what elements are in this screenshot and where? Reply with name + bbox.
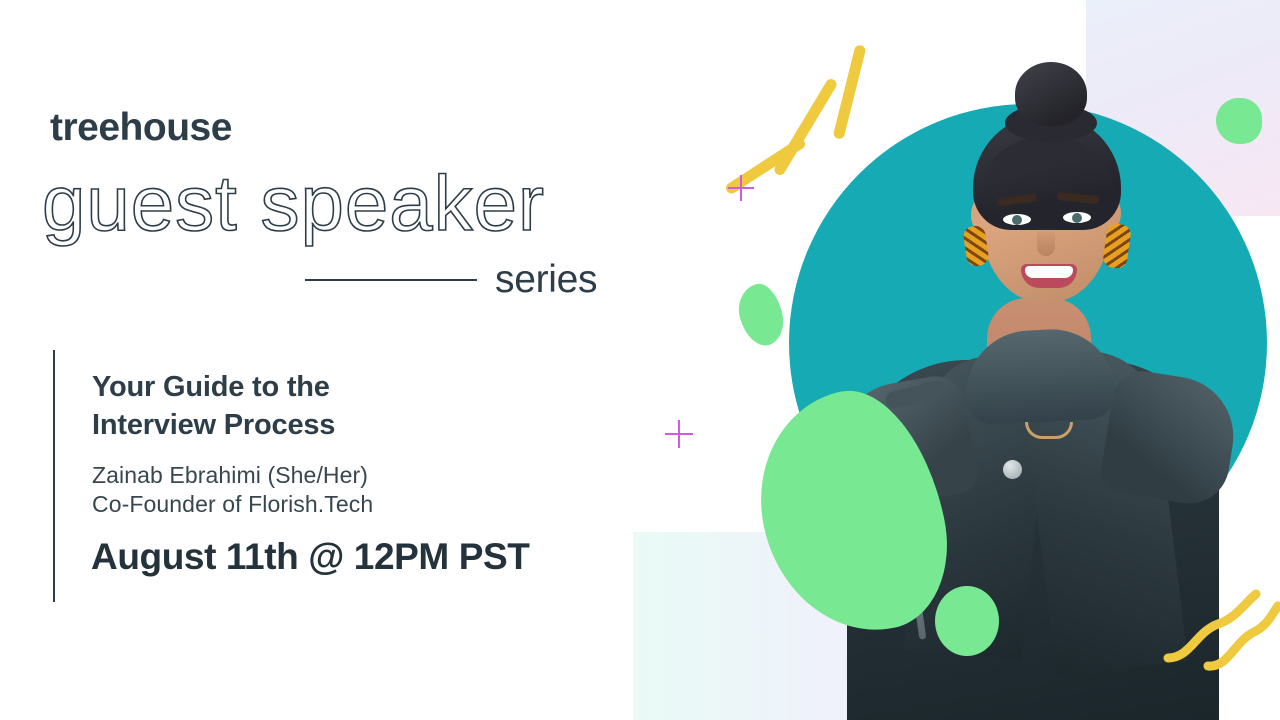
brand-wordmark: treehouse [50, 106, 232, 150]
portrait-earring-right [1102, 223, 1132, 270]
portrait-teeth [1025, 266, 1073, 278]
portrait-iris-right [1072, 213, 1082, 223]
series-divider-rule [305, 279, 477, 281]
green-bean-small [732, 279, 789, 350]
portrait-shoulder-right [1098, 367, 1242, 509]
portrait-hair-bun [1015, 62, 1087, 126]
session-title: Your Guide to the Interview Process [92, 368, 532, 445]
promo-slide: treehouse guest speaker series Your Guid… [0, 0, 1280, 720]
event-date-time: August 11th @ 12PM PST [91, 536, 529, 578]
portrait-iris-left [1012, 215, 1022, 225]
portrait-nose [1037, 228, 1055, 256]
series-label: series [495, 258, 597, 302]
green-circle [935, 586, 999, 656]
headline-outline-text: guest speaker [42, 158, 545, 249]
slide-text-column: treehouse guest speaker series Your Guid… [0, 0, 680, 720]
vertical-accent-rule [53, 350, 55, 602]
session-title-line-2: Interview Process [92, 406, 532, 444]
magenta-plus-upper [728, 175, 754, 201]
session-title-line-1: Your Guide to the [92, 368, 532, 406]
speaker-role: Co-Founder of Florish.Tech [92, 491, 373, 518]
portrait-jacket-stud [1003, 460, 1022, 479]
speaker-name: Zainab Ebrahimi (She/Her) [92, 462, 368, 489]
series-row: series [305, 258, 625, 302]
portrait-jacket-collar [963, 326, 1118, 426]
green-dot-top-right [1216, 98, 1262, 144]
yellow-squiggle-lines [1160, 580, 1280, 700]
